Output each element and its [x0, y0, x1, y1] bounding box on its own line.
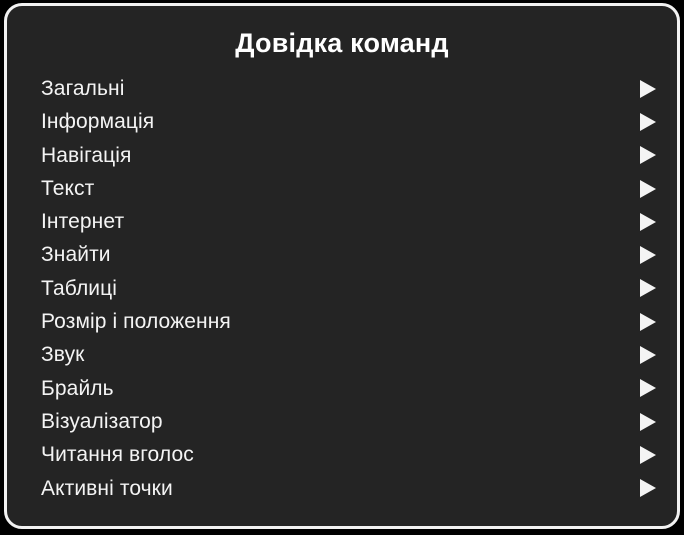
menu-item-internet[interactable]: Інтернет	[7, 205, 677, 238]
triangle-right-icon	[640, 80, 656, 98]
triangle-right-icon	[640, 146, 656, 164]
menu-item-brail[interactable]: Брайль	[7, 372, 677, 405]
triangle-right-icon	[640, 446, 656, 464]
menu-item-znaity[interactable]: Знайти	[7, 238, 677, 271]
menu-item-chytannia-vholos[interactable]: Читання вголос	[7, 438, 677, 471]
menu-item-label: Таблиці	[41, 272, 117, 305]
menu-item-label: Текст	[41, 172, 94, 205]
triangle-right-icon	[640, 180, 656, 198]
triangle-right-icon	[640, 479, 656, 497]
menu-item-label: Активні точки	[41, 472, 173, 505]
commands-menu-list: Загальні Інформація Навігація Текст Інте…	[7, 72, 677, 505]
menu-item-navihatsiia[interactable]: Навігація	[7, 139, 677, 172]
menu-item-aktyvni-tochky[interactable]: Активні точки	[7, 472, 677, 505]
menu-item-label: Навігація	[41, 139, 132, 172]
menu-item-tablytsi[interactable]: Таблиці	[7, 272, 677, 305]
triangle-right-icon	[640, 113, 656, 131]
triangle-right-icon	[640, 379, 656, 397]
menu-item-label: Звук	[41, 338, 84, 371]
triangle-right-icon	[640, 413, 656, 431]
menu-item-label: Інформація	[41, 105, 154, 138]
menu-item-zvuk[interactable]: Звук	[7, 338, 677, 371]
menu-item-label: Читання вголос	[41, 438, 194, 471]
menu-item-vizualizator[interactable]: Візуалізатор	[7, 405, 677, 438]
triangle-right-icon	[640, 246, 656, 264]
menu-item-rozmir-i-polozhennia[interactable]: Розмір і положення	[7, 305, 677, 338]
triangle-right-icon	[640, 346, 656, 364]
menu-item-zahalni[interactable]: Загальні	[7, 72, 677, 105]
menu-item-label: Брайль	[41, 372, 114, 405]
commands-help-panel: Довідка команд Загальні Інформація Навіг…	[4, 3, 680, 529]
menu-item-label: Інтернет	[41, 205, 124, 238]
menu-item-tekst[interactable]: Текст	[7, 172, 677, 205]
screen-background: Довідка команд Загальні Інформація Навіг…	[0, 0, 684, 535]
menu-item-label: Знайти	[41, 238, 111, 271]
triangle-right-icon	[640, 213, 656, 231]
triangle-right-icon	[640, 279, 656, 297]
page-title: Довідка команд	[7, 26, 677, 60]
triangle-right-icon	[640, 313, 656, 331]
menu-item-label: Розмір і положення	[41, 305, 231, 338]
menu-item-label: Візуалізатор	[41, 405, 163, 438]
menu-item-label: Загальні	[41, 72, 125, 105]
menu-item-informatsiia[interactable]: Інформація	[7, 105, 677, 138]
